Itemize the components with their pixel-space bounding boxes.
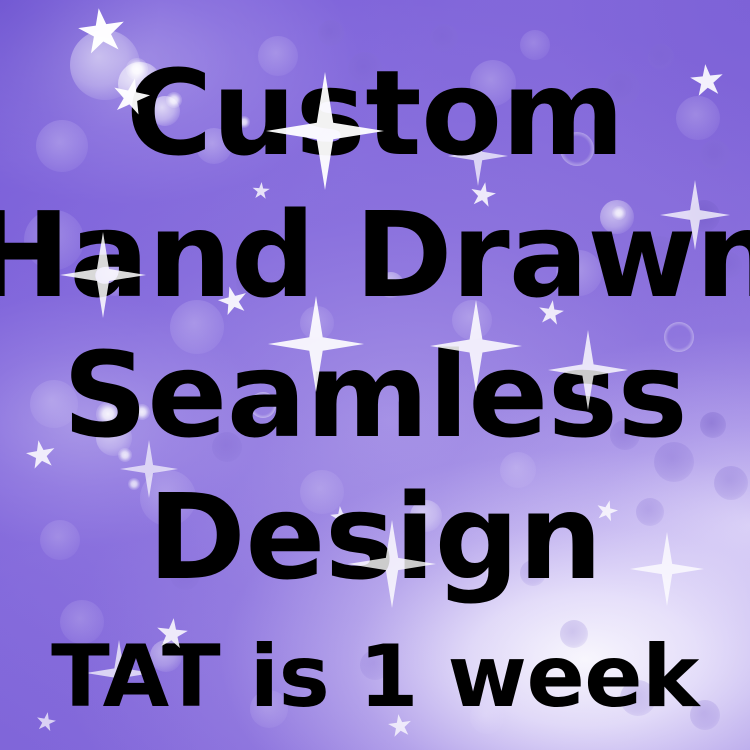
turnaround-time-line: TAT is 1 week [51,634,699,720]
headline-line-3: Seamless [63,336,688,454]
promo-image-canvas: Custom Hand Drawn Seamless Design TAT is… [0,0,750,750]
headline-line-4: Design [148,478,602,596]
headline-line-2: Hand Drawn [0,196,750,314]
headline-block: Custom Hand Drawn Seamless Design TAT is… [0,0,750,750]
headline-line-1: Custom [126,54,624,172]
